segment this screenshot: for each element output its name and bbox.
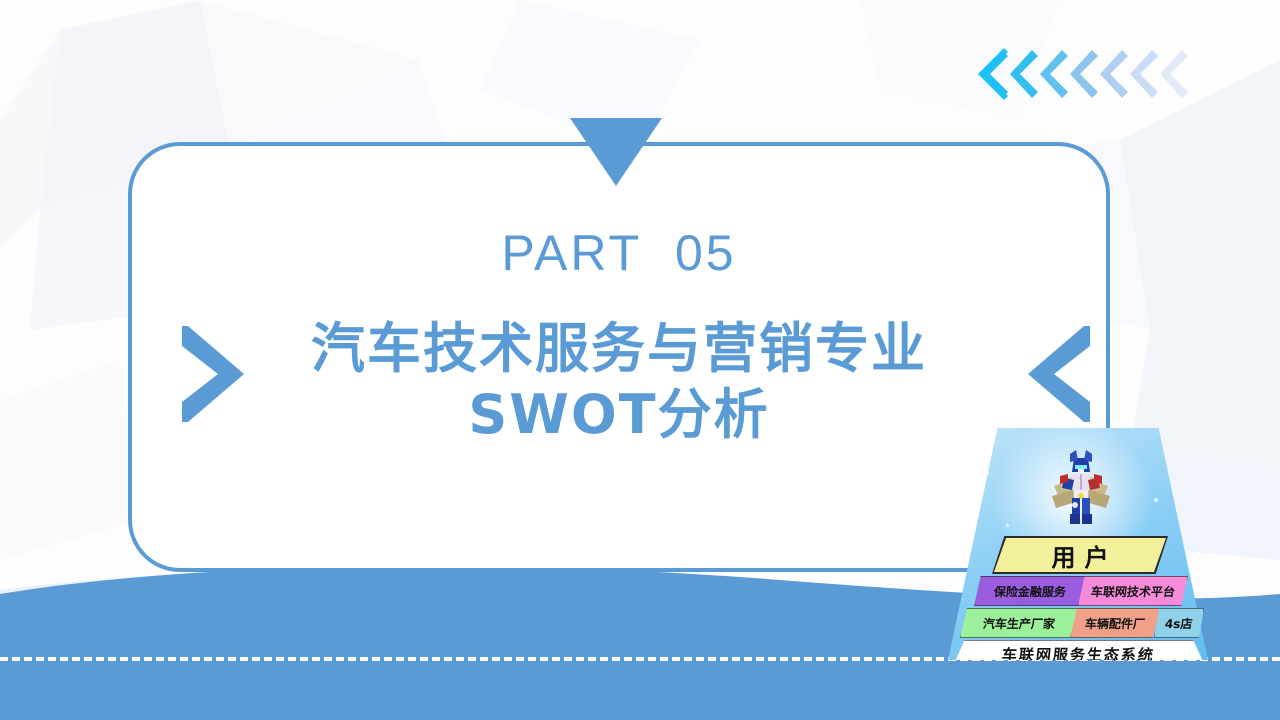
chevron-strip-decoration — [978, 48, 1188, 100]
pyramid-level-4: 车联网服务生态系统 — [952, 640, 1206, 660]
robot-mascot-icon — [1052, 450, 1110, 542]
segment-label: 车联网服务生态系统 — [1001, 644, 1156, 661]
segment-label: 车联网技术平台 — [1090, 583, 1176, 600]
chevron-left-icon-1 — [978, 48, 1008, 100]
pyramid-segment-parts-factory: 车辆配件厂 — [1070, 608, 1160, 638]
chevron-right-icon — [182, 326, 244, 422]
pyramid-level-1-label: 用户 — [994, 538, 1166, 572]
chevron-left-icon-2 — [1008, 48, 1038, 100]
sparkle-icon — [1154, 498, 1158, 502]
triangle-down-icon — [570, 118, 662, 186]
chevron-left-icon-3 — [1038, 48, 1068, 100]
chevron-left-icon-5 — [1098, 48, 1128, 100]
pyramid-illustration: 用户 保险金融服务 车联网技术平台 汽车生产厂家 车辆配件厂 4s店 — [948, 428, 1208, 660]
segment-label: 车辆配件厂 — [1084, 615, 1146, 632]
segment-label: 汽车生产厂家 — [982, 615, 1056, 632]
chevron-left-icon-7 — [1158, 48, 1188, 100]
chevron-left-icon — [1028, 326, 1090, 422]
sparkle-icon — [1006, 524, 1009, 527]
sparkle-icon — [986, 472, 989, 475]
segment-label: 4s店 — [1164, 615, 1193, 632]
chevron-left-icon-4 — [1068, 48, 1098, 100]
chevron-left-icon-6 — [1128, 48, 1158, 100]
pyramid-segment-auto-manufacturer: 汽车生产厂家 — [960, 608, 1078, 638]
segment-label: 保险金融服务 — [993, 583, 1067, 600]
pyramid-segment-iov-service-ecosystem: 车联网服务生态系统 — [952, 640, 1206, 660]
pyramid-segment-insurance-finance: 保险金融服务 — [974, 576, 1086, 606]
pyramid-level-2: 保险金融服务 车联网技术平台 — [974, 576, 1186, 606]
pyramid-segment-iov-tech-platform: 车联网技术平台 — [1078, 576, 1188, 606]
slide-canvas: PART 05 汽车技术服务与营销专业 SWOT分析 — [0, 0, 1280, 720]
pyramid-level-3: 汽车生产厂家 车辆配件厂 4s店 — [960, 608, 1198, 638]
pyramid-segment-4s-store: 4s店 — [1154, 608, 1204, 638]
